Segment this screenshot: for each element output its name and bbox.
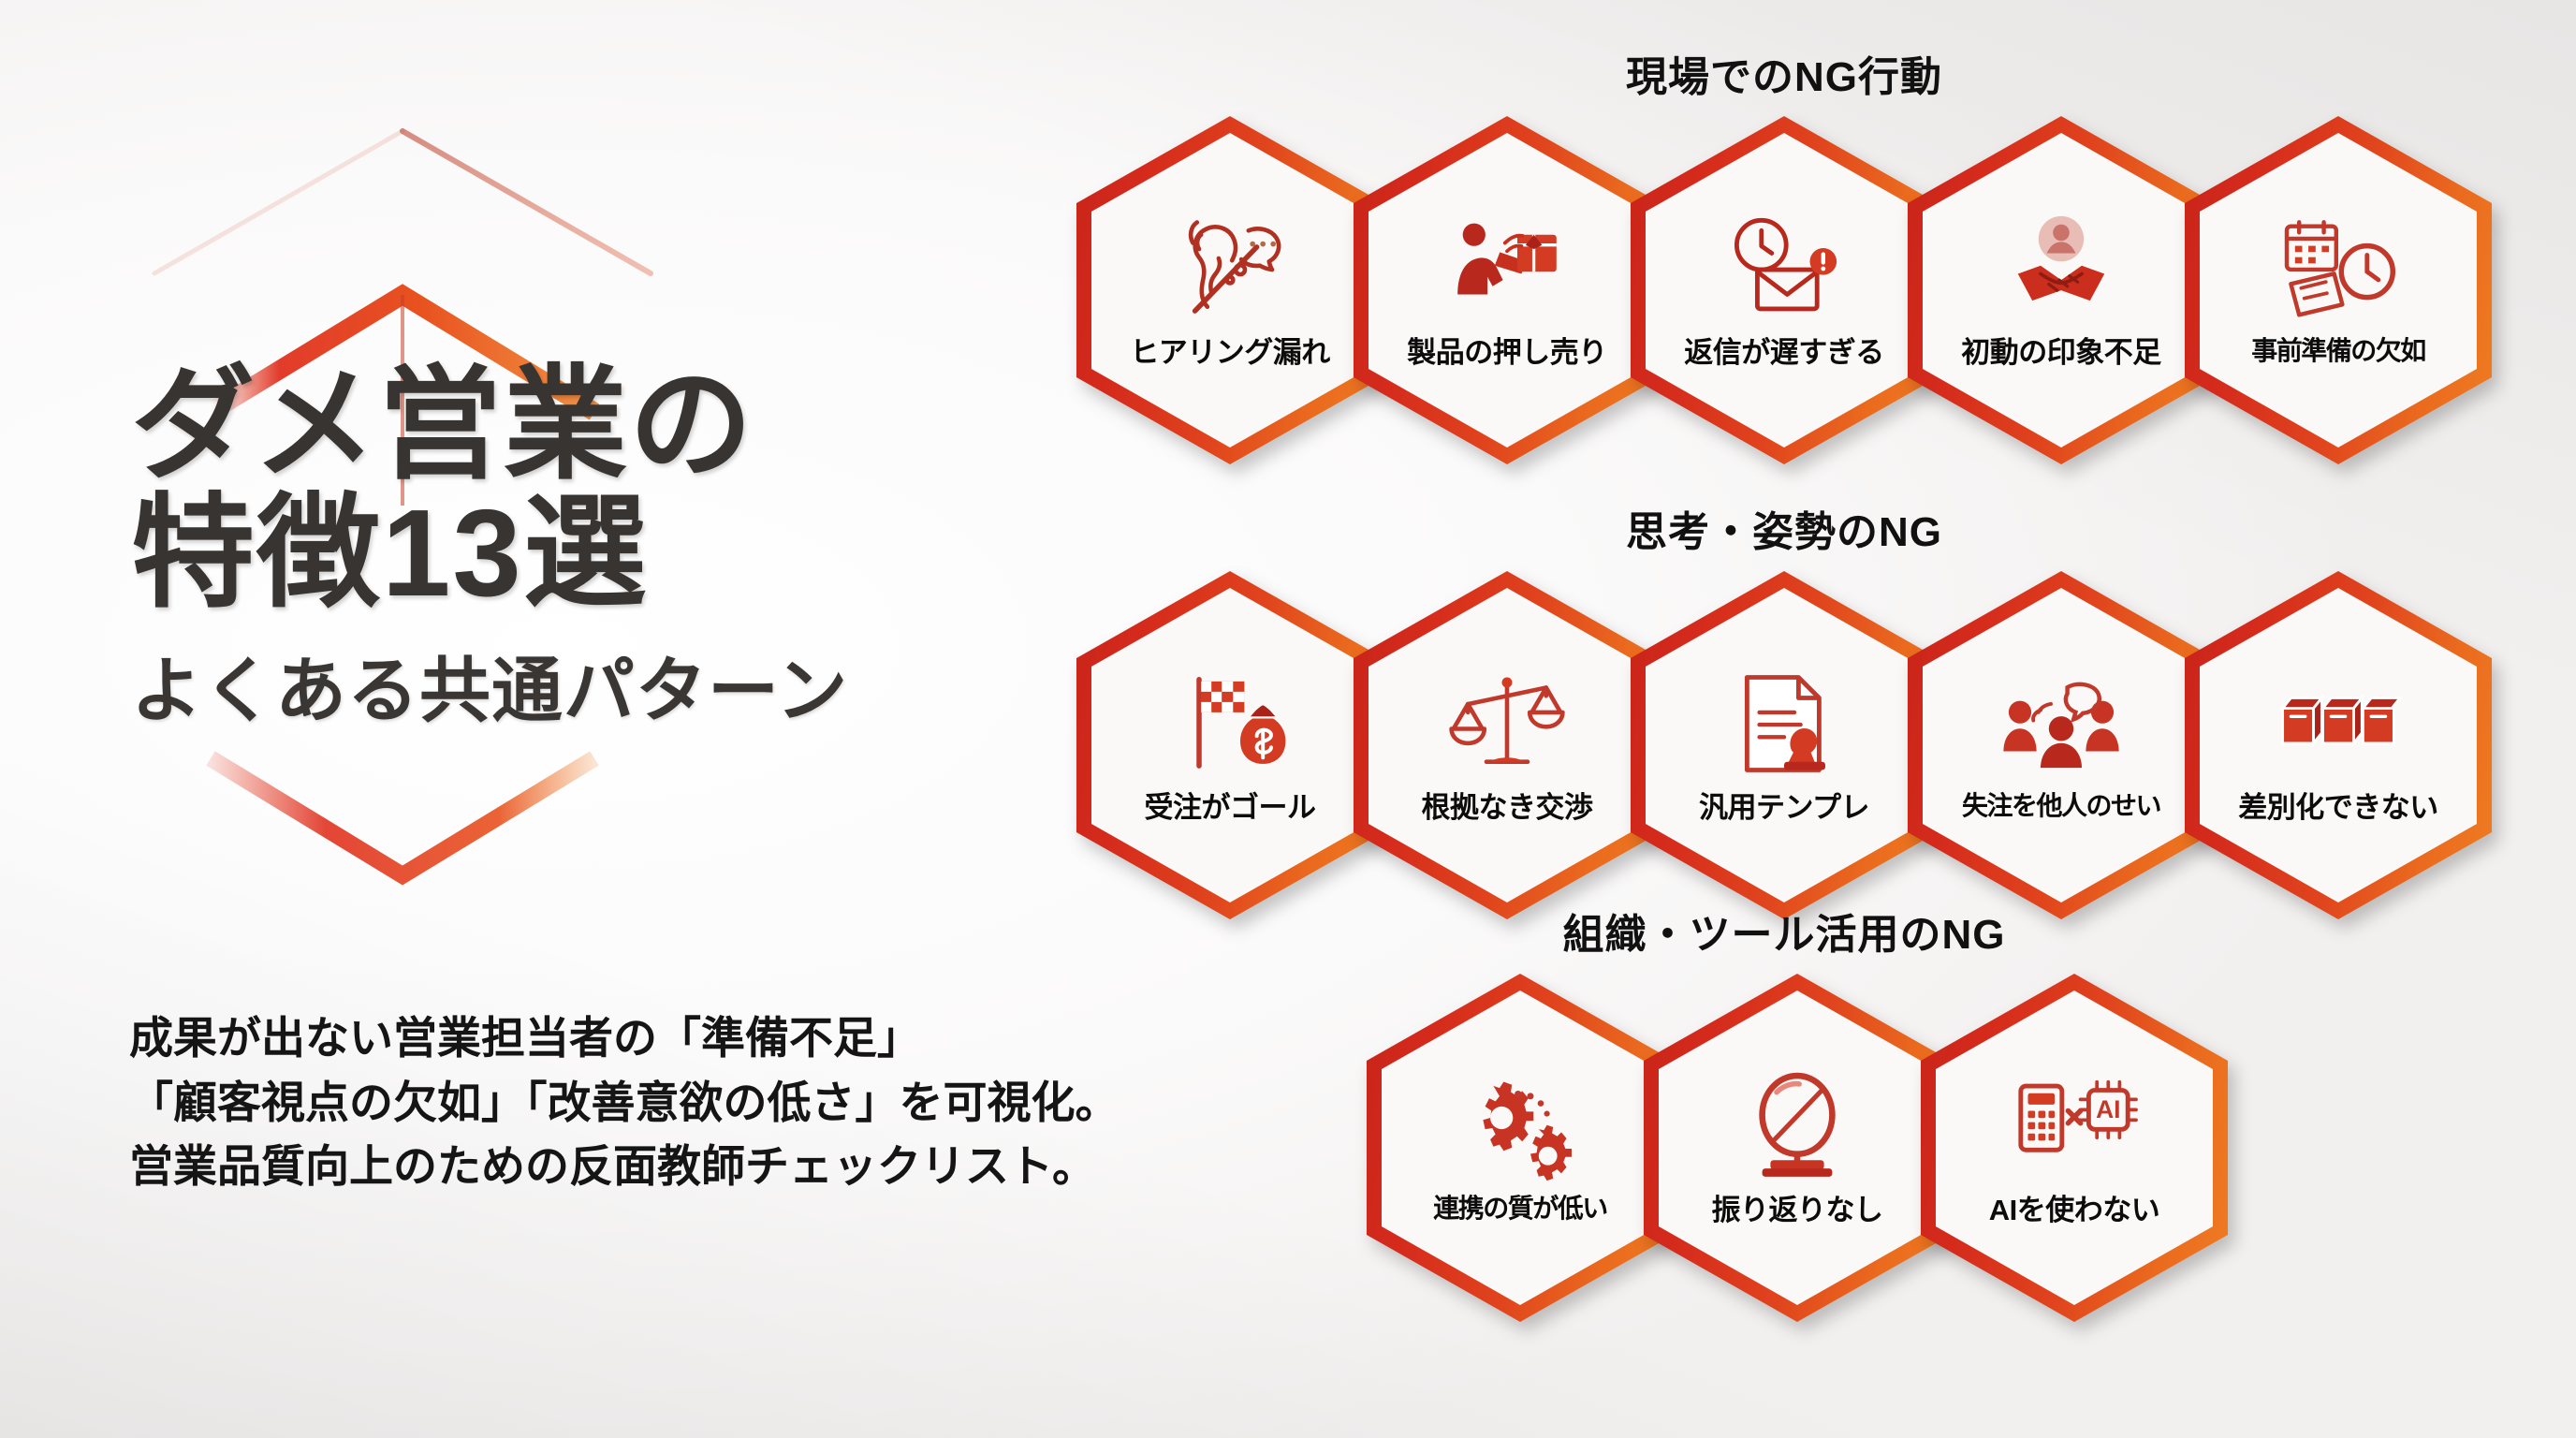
hex-label: 製品の押し売り [1407,329,1607,371]
document-stamp-icon [1722,666,1846,782]
description-line-3: 営業品質向上のための反面教師チェックリスト。 [129,1135,1065,1199]
hex-row-2: 受注がゴール [992,571,2576,919]
section-ng-org-tools: 組織・ツール活用のNG [992,901,2576,1322]
section-title-ng-on-site: 現場でのNG行動 [992,43,2576,103]
calculator-not-ai-chip-icon: AI [2012,1068,2136,1184]
description-paragraph: 成果が出ない営業担当者の「準備不足」 「顧客視点の欠如」「改善意欲の低さ」を可視… [129,1006,1065,1199]
handshake-faded-avatar-icon [1999,211,2123,327]
flag-money-bag-icon [1168,666,1292,782]
unbalanced-scales-icon [1445,666,1569,782]
hex-card-order-is-goal[interactable]: 受注がゴール [1076,571,1383,919]
hex-card-slow-reply[interactable]: 返信が遅すぎる [1631,116,1938,464]
hex-card-no-ai[interactable]: AI AIを使わない [1921,974,2228,1322]
identical-boxes-icon [2276,666,2400,782]
hex-label: 振り返りなし [1712,1186,1883,1228]
hex-card-hearing-miss[interactable]: ヒアリング漏れ [1076,116,1383,464]
hex-label: 受注がゴール [1145,784,1316,826]
hex-card-no-review[interactable]: 振り返りなし [1644,974,1951,1322]
hex-row-3: 連携の質が低い 振り [1005,974,2576,1322]
section-ng-on-site: 現場でのNG行動 [992,43,2576,464]
hex-card-no-differentiation[interactable]: 差別化できない [2185,571,2492,919]
ear-mute-speech-bubble-icon [1168,211,1292,327]
description-line-2: 「顧客視点の欠如」「改善意欲の低さ」を可視化。 [129,1071,1065,1136]
hex-card-no-preparation[interactable]: 事前準備の欠如 [2185,116,2492,464]
title-line-2: 特徴13選 [131,489,973,617]
hex-card-generic-template[interactable]: 汎用テンプレ [1631,571,1938,919]
page-title: ダメ営業の 特徴13選 よくある共通パターン [131,360,973,736]
hex-label: 差別化できない [2238,784,2438,826]
clock-envelope-alert-icon [1722,211,1846,327]
title-line-1: ダメ営業の [131,360,973,489]
hex-card-blame-others[interactable]: 失注を他人のせい [1908,571,2215,919]
hex-label: 事前準備の欠如 [2251,330,2425,368]
hex-label: 初動の印象不足 [1961,329,2161,371]
hex-label: AIを使わない [1989,1186,2160,1228]
section-title-ng-mindset: 思考・姿勢のNG [992,498,2576,558]
mirror-no-reflection-icon [1735,1068,1859,1184]
hex-label: 失注を他人のせい [1962,785,2160,823]
people-blaming-icon [1999,668,2123,784]
hex-label: 汎用テンプレ [1699,784,1869,826]
calendar-clipboard-clock-icon [2276,213,2400,329]
hex-card-hard-selling[interactable]: 製品の押し売り [1354,116,1661,464]
hex-label: 連携の質が低い [1433,1188,1607,1225]
salesman-pushing-box-icon [1445,211,1569,327]
hex-card-poor-collaboration[interactable]: 連携の質が低い [1367,974,1674,1322]
hex-label: ヒアリング漏れ [1130,329,1330,371]
section-ng-mindset: 思考・姿勢のNG 受注がゴール [992,498,2576,919]
section-title-ng-org-tools: 組織・ツール活用のNG [992,901,2576,961]
title-subtitle: よくある共通パターン [131,633,973,736]
hex-label: 返信が遅すぎる [1684,329,1884,371]
hex-card-weak-first-impression[interactable]: 初動の印象不足 [1908,116,2215,464]
title-panel: ダメ営業の 特徴13選 よくある共通パターン 成果が出ない営業担当者の「準備不足… [0,0,992,1438]
hex-label: 根拠なき交渉 [1422,784,1593,826]
hex-row-1: ヒアリング漏れ [992,116,2576,464]
svg-text:AI: AI [2096,1095,2120,1123]
description-line-1: 成果が出ない営業担当者の「準備不足」 [129,1006,1065,1071]
hexagon-grid-panel: 現場でのNG行動 [992,0,2576,1438]
disconnected-gears-icon [1458,1070,1582,1186]
hex-card-baseless-negotiation[interactable]: 根拠なき交渉 [1354,571,1661,919]
